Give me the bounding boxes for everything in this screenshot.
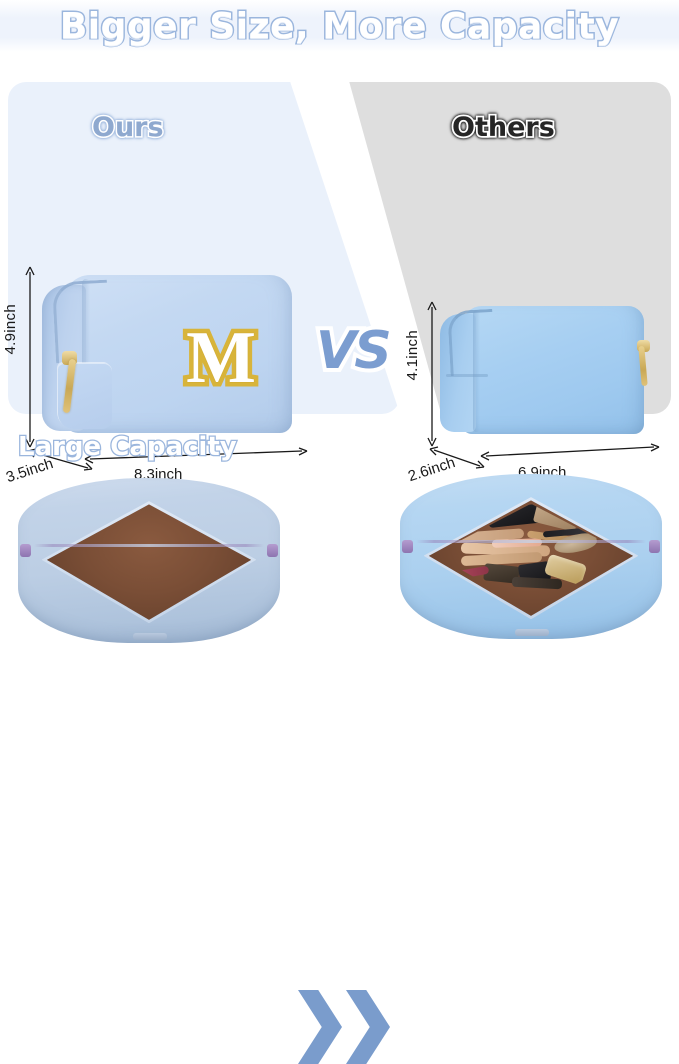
page-title: Bigger Size, More Capacity [0,4,679,48]
title-banner: Bigger Size, More Capacity [0,0,679,52]
open-bag-filled-zipper-grip-right [649,540,660,553]
bag-others-fold-line [446,374,488,377]
double-chevron-right-icon [298,990,394,1064]
open-bag-filled [400,474,662,639]
bag-others-zipper-track [447,309,495,376]
product-bag-ours: M [42,267,294,442]
product-bag-others [440,300,640,442]
dimension-arrow-others-width [480,444,662,460]
open-bag-empty-base-tab [133,633,167,640]
versus-badge: VS [316,325,390,377]
capacity-comparison-row [0,470,679,663]
panel-ours-label: Ours [92,112,164,143]
open-bag-filled-zipper-grip-left [402,540,413,553]
large-capacity-title: Large Capacity [18,432,237,462]
makeup-item-dark-tube [511,576,562,588]
dimension-arrow-ours-height [22,266,38,448]
open-bag-empty [18,478,280,643]
dimension-arrow-others-height [424,301,440,447]
comparison-section: Ours Others M 4.9inch 3.5inch 8.3inch VS [0,82,679,414]
letter-patch-m: M [184,317,258,399]
open-bag-filled-base-tab [515,629,549,636]
open-bag-empty-zipper [34,544,265,547]
open-bag-filled-zipper [416,540,647,543]
open-bag-empty-zipper-grip-left [20,544,31,557]
dimension-label-ours-height: 4.9inch [2,304,19,354]
open-bag-empty-zipper-grip-right [267,544,278,557]
dimension-label-others-height: 4.1inch [404,330,421,380]
panel-others-label: Others [452,112,555,143]
bag-ours-zipper-track [52,280,111,364]
